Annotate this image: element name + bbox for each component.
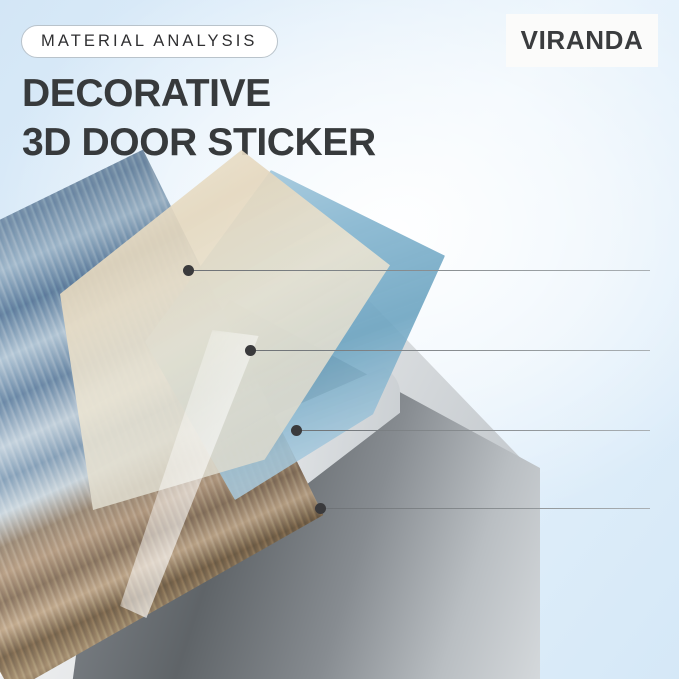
callout-dot-icon <box>245 345 256 356</box>
callout-leader-line <box>192 270 650 271</box>
callout-leader-line <box>324 508 650 509</box>
callout-dot-icon <box>291 425 302 436</box>
brand-name: VIRANDA <box>521 25 644 56</box>
callout-dot-icon <box>183 265 194 276</box>
brand-logo-box: VIRANDA <box>506 14 658 67</box>
callout-leader-line <box>300 430 650 431</box>
callout-dot-icon <box>315 503 326 514</box>
page-title-line-1: DECORATIVE <box>22 69 376 118</box>
sticker-cutaway-illustration <box>0 150 520 679</box>
poster-canvas: MATERIAL ANALYSIS DECORATIVE 3D DOOR STI… <box>0 0 679 679</box>
callout-leader-line <box>254 350 650 351</box>
material-analysis-badge: MATERIAL ANALYSIS <box>21 25 278 58</box>
